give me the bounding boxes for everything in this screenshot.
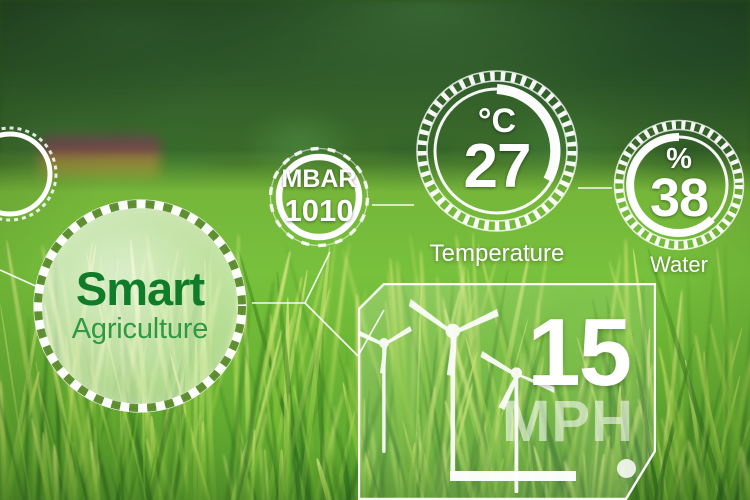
water-value: 38 [650,171,708,225]
pressure-unit: MBAR [282,167,357,192]
badge-subtitle: Agriculture [72,314,208,346]
panel-bottom-tab[interactable] [450,471,576,481]
dashboard-scene: Smart Agriculture MBAR 1010 °C 27 [0,0,750,500]
pressure-value: 1010 [285,195,354,228]
wind-speed-value: 15 [527,305,630,401]
pressure-readout: MBAR 1010 [266,144,372,250]
wind-speed-panel[interactable]: 15 MPH [358,283,656,500]
temperature-gauge[interactable]: °C 27 [414,68,580,234]
panel-corner-dot[interactable] [617,459,636,478]
temperature-value: 27 [464,136,531,198]
water-caption: Water [612,252,746,278]
water-readout: % 38 [612,118,746,252]
smart-agriculture-badge[interactable]: Smart Agriculture [26,192,254,420]
wind-speed-unit: MPH [502,393,634,451]
pressure-gauge[interactable]: MBAR 1010 [266,144,372,250]
badge-title: Smart [76,266,204,312]
temperature-caption: Temperature [414,240,580,268]
water-gauge[interactable]: % 38 [612,118,746,252]
badge-text: Smart Agriculture [26,192,254,420]
temperature-readout: °C 27 [414,68,580,234]
